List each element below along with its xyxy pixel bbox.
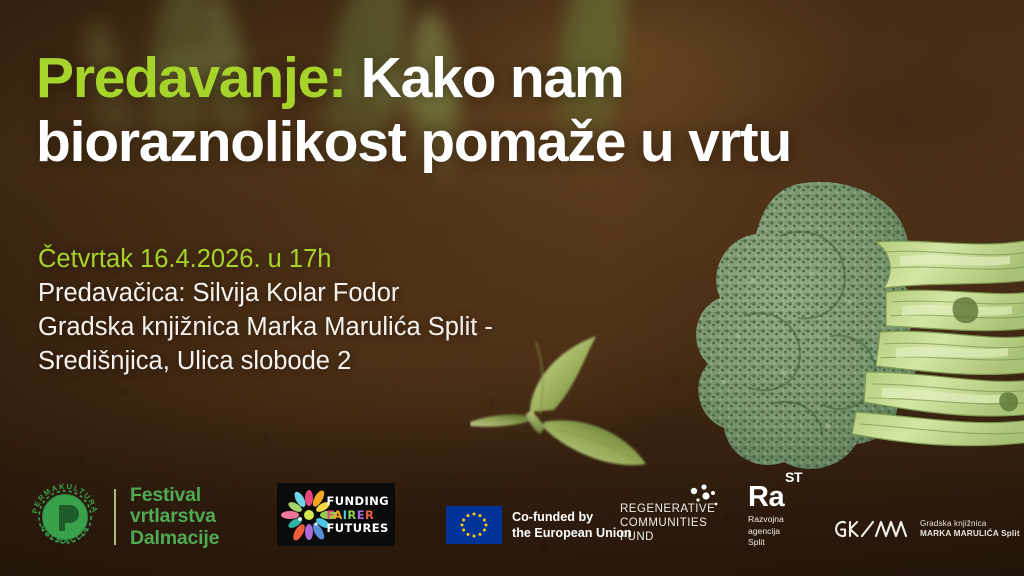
sponsor-logo-strip: PERMAKULTURA DALMACIJA Festival vrtlarst… xyxy=(0,466,1024,576)
event-details: Četvrtak 16.4.2026. u 17h Predavačica: S… xyxy=(38,243,493,379)
rast-block: Ra ST Razvojna agencija Split xyxy=(748,484,784,548)
european-union-flag-icon xyxy=(446,506,502,544)
gkmm-caption-line-1: Gradska knjižnica xyxy=(920,519,1020,529)
gkmm-mark-icon xyxy=(832,516,912,542)
logo-regenerative-communities-fund: REGENERATIVE COMMUNITIES FUND xyxy=(620,502,715,544)
gkmm-caption: Gradska knjižnica MARKA MARULIĆA Split xyxy=(920,519,1020,539)
broccoli-illustration xyxy=(680,176,1024,506)
rast-subtitle: Razvojna agencija Split xyxy=(748,514,784,548)
title-highlight: Predavanje: xyxy=(36,46,346,110)
fff-line-2: FAIRER xyxy=(326,509,389,523)
festival-wordmark-line-2: vrtlarstva xyxy=(130,506,219,527)
rast-sub-line-2: agencija xyxy=(748,526,784,537)
rast-main-text: Ra xyxy=(748,481,784,513)
event-venue-line-1: Gradska knjižnica Marka Marulića Split - xyxy=(38,311,493,345)
event-date: Četvrtak 16.4.2026. u 17h xyxy=(38,243,493,277)
rcf-line-2: COMMUNITIES xyxy=(620,516,715,530)
event-venue-line-2: Središnjica, Ulica slobode 2 xyxy=(38,345,493,379)
logo-permakultura-dalmacija: PERMAKULTURA DALMACIJA Festival vrtlarst… xyxy=(28,480,219,554)
logo-funding-fairer-futures: FUNDING FAIRER FUTURES xyxy=(277,483,395,546)
rast-sub-line-1: Razvojna xyxy=(748,514,784,525)
rast-sub-line-3: Split xyxy=(748,537,784,548)
festival-wordmark-line-1: Festival xyxy=(130,485,219,506)
rast-superscript-text: ST xyxy=(785,471,802,484)
fff-line-3: FUTURES xyxy=(326,522,389,536)
logo-rast-razvojna-agencija-split: Ra ST Razvojna agencija Split xyxy=(748,484,784,548)
event-speaker: Predavačica: Silvija Kolar Fodor xyxy=(38,277,493,311)
eu-caption: Co-funded by the European Union xyxy=(512,509,632,541)
rcf-line-3: FUND xyxy=(620,530,715,544)
fff-line-1: FUNDING xyxy=(326,495,389,509)
rcf-dots-icon xyxy=(676,482,720,516)
logo-divider xyxy=(114,489,116,545)
rast-mark: Ra ST xyxy=(748,484,784,512)
eu-caption-line-2: the European Union xyxy=(512,525,632,541)
logo-co-funded-by-eu: Co-funded by the European Union xyxy=(446,506,632,544)
festival-wordmark-line-3: Dalmacije xyxy=(130,528,219,549)
event-poster: Predavanje: Kako nam bioraznolikost poma… xyxy=(0,0,1024,576)
eu-caption-line-1: Co-funded by xyxy=(512,509,632,525)
permakultura-seal-icon: PERMAKULTURA DALMACIJA xyxy=(28,480,102,554)
festival-wordmark: Festival vrtlarstva Dalmacije xyxy=(130,485,219,549)
logo-gkmm: Gradska knjižnica MARKA MARULIĆA Split xyxy=(832,516,1020,542)
fff-wordmark: FUNDING FAIRER FUTURES xyxy=(326,495,389,536)
title-line-1: Predavanje: Kako nam xyxy=(36,46,1016,110)
title-rest: Kako nam xyxy=(346,46,623,110)
title-line-2: bioraznolikost pomaže u vrtu xyxy=(36,110,1016,174)
page-title: Predavanje: Kako nam bioraznolikost poma… xyxy=(36,46,1016,175)
gkmm-caption-line-2: MARKA MARULIĆA Split xyxy=(920,529,1020,539)
